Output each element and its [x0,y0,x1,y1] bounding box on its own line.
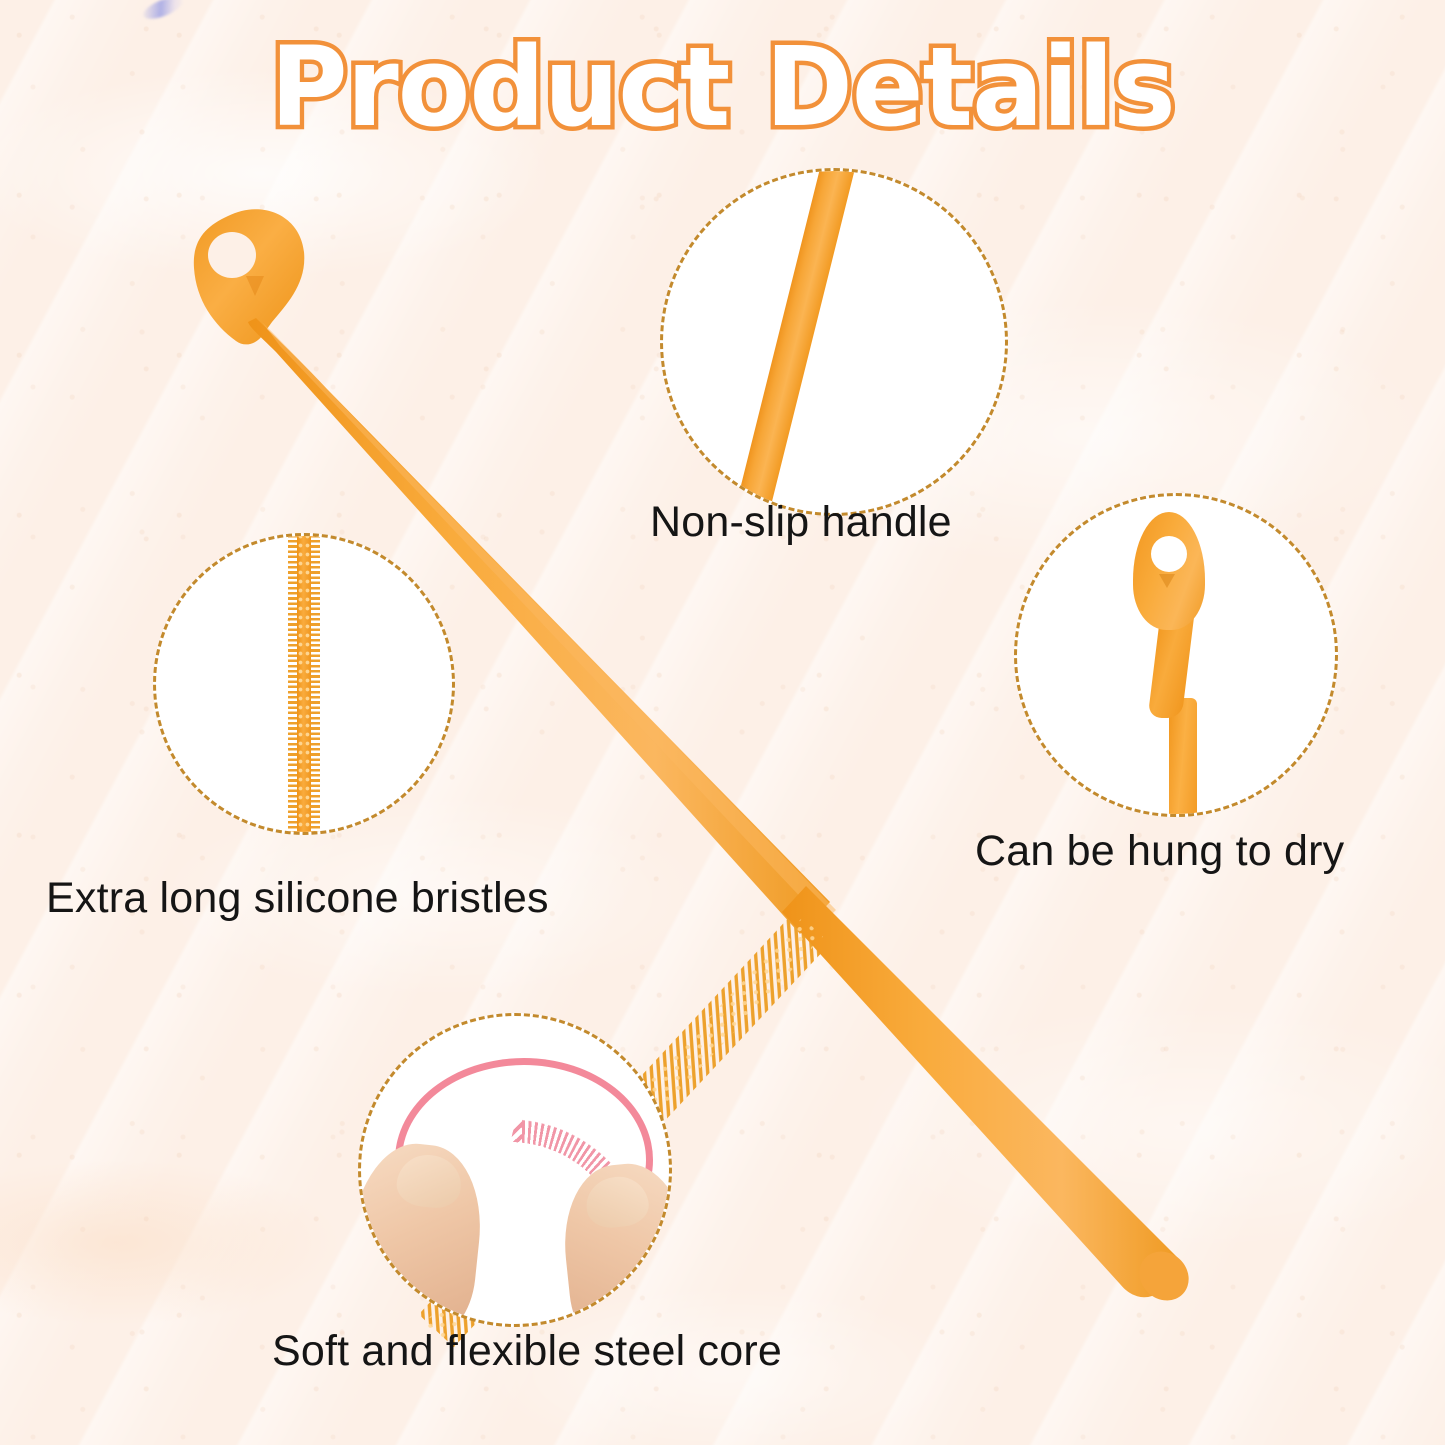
bristle-row-right [311,536,320,832]
callout-non-slip-handle[interactable] [660,168,1008,516]
hang-v-mark [1159,574,1175,588]
bristle-row-left [288,536,297,832]
hang-teardrop [1133,512,1205,630]
callout-label-non-slip-handle: Non-slip handle [650,498,952,547]
hanging-loop-icon [1125,512,1245,814]
callout-hang-clip [1017,496,1335,814]
callout-label-can-be-hung-to-dry: Can be hung to dry [975,827,1344,876]
product-hanging-loop [194,209,304,344]
page-title: Product Details [29,30,1416,146]
callout-soft-and-flexible-steel-core[interactable] [358,1013,672,1327]
callout-non-slip-handle-clip [663,171,1005,513]
callout-label-extra-long-silicone-bristles: Extra long silicone bristles [46,874,549,923]
callout-extra-long-silicone-bristles[interactable] [153,533,455,835]
bristle-core-dots [297,536,311,832]
corner-artifact-mark [141,0,186,23]
callout-steel-core-clip [361,1016,669,1324]
silicone-bristles-icon [289,536,319,832]
callout-bristles-clip [156,536,452,832]
callout-label-soft-and-flexible-steel-core: Soft and flexible steel core [272,1327,782,1376]
callout-can-be-hung-to-dry[interactable] [1014,493,1338,817]
infographic-canvas: Product Details [0,0,1445,1445]
handle-shaft-icon [722,171,861,513]
